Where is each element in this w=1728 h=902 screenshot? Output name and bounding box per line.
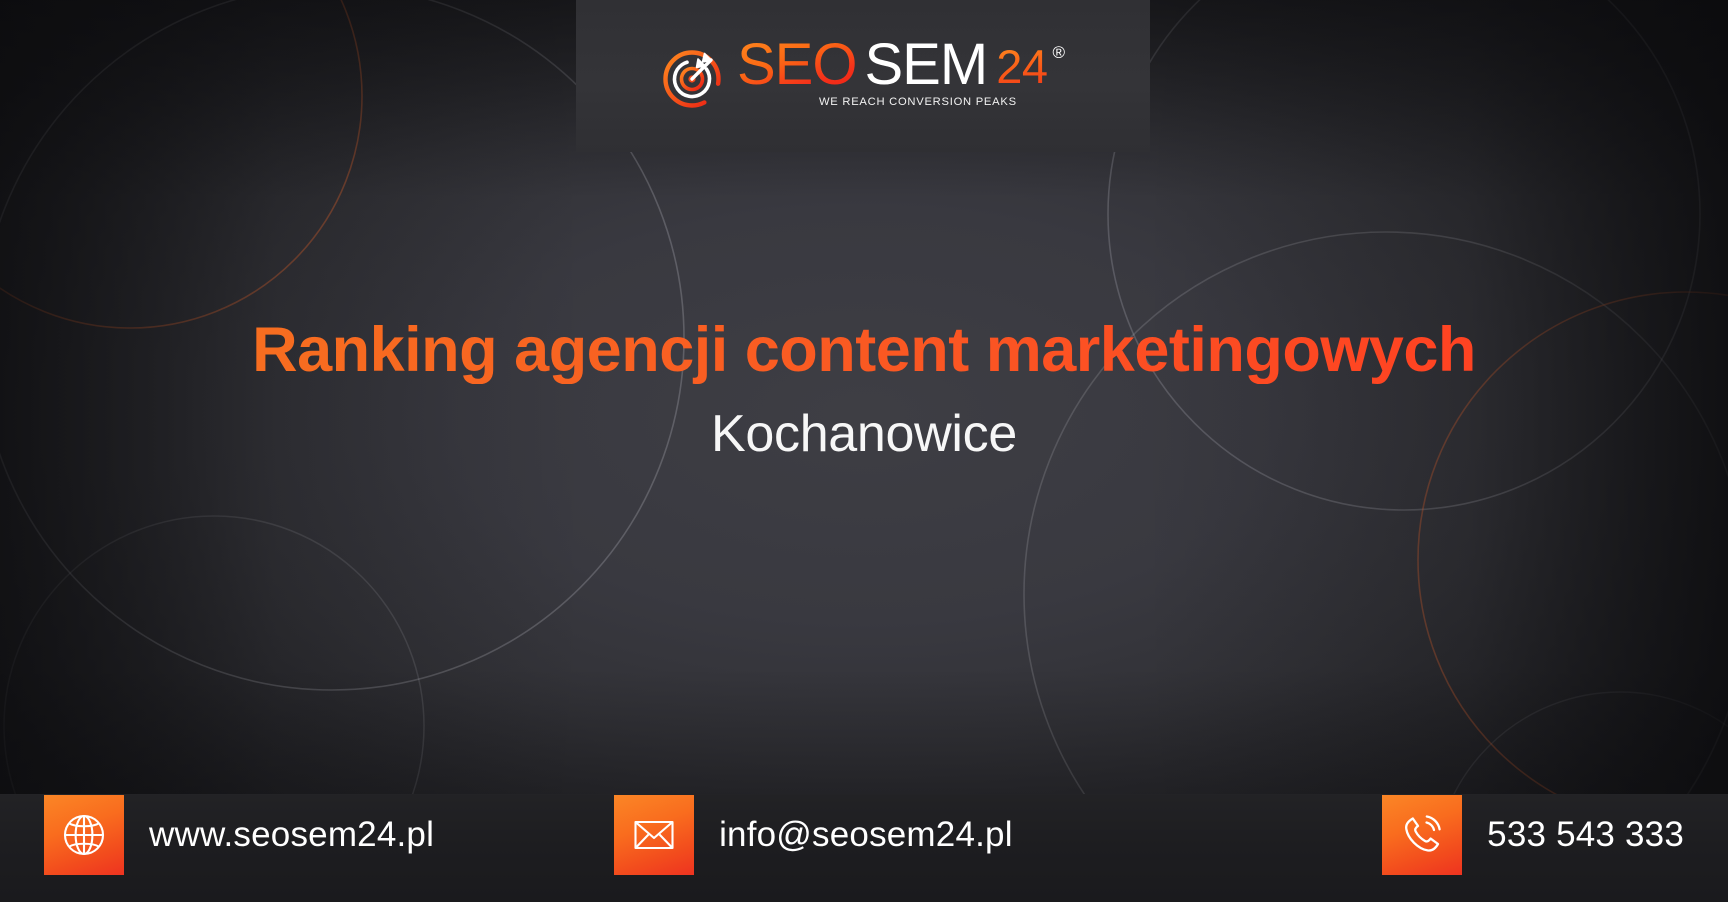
email-label: info@seosem24.pl [719,815,1013,855]
envelope-icon [614,795,694,875]
headline-block: Ranking agencji content marketingowych K… [0,316,1728,463]
contact-item-phone[interactable]: 533 543 333 [1382,795,1684,875]
logo-seo-text: SEO [737,36,857,94]
phone-label: 533 543 333 [1487,815,1684,855]
website-label: www.seosem24.pl [149,815,434,855]
globe-icon [44,795,124,875]
logo-24-text: 24 [996,43,1047,90]
logo-tagline: WE REACH CONVERSION PEAKS [819,96,1065,108]
logo-sem-text: SEM [865,36,988,94]
page-subtitle: Kochanowice [0,406,1728,463]
phone-icon [1382,795,1462,875]
promo-banner: SEO SEM 24 ® WE REACH CONVERSION PEAKS R… [0,0,1728,902]
footer-contact-list: www.seosem24.pl info@seosem24.pl [0,752,1728,902]
registered-trademark-icon: ® [1052,44,1065,61]
contact-item-email[interactable]: info@seosem24.pl [614,795,1013,875]
logo-panel: SEO SEM 24 ® WE REACH CONVERSION PEAKS [576,0,1150,152]
target-dart-icon [661,42,723,104]
brand-logo[interactable]: SEO SEM 24 ® WE REACH CONVERSION PEAKS [661,36,1065,108]
page-title: Ranking agencji content marketingowych [0,316,1728,384]
contact-item-website[interactable]: www.seosem24.pl [44,795,434,875]
